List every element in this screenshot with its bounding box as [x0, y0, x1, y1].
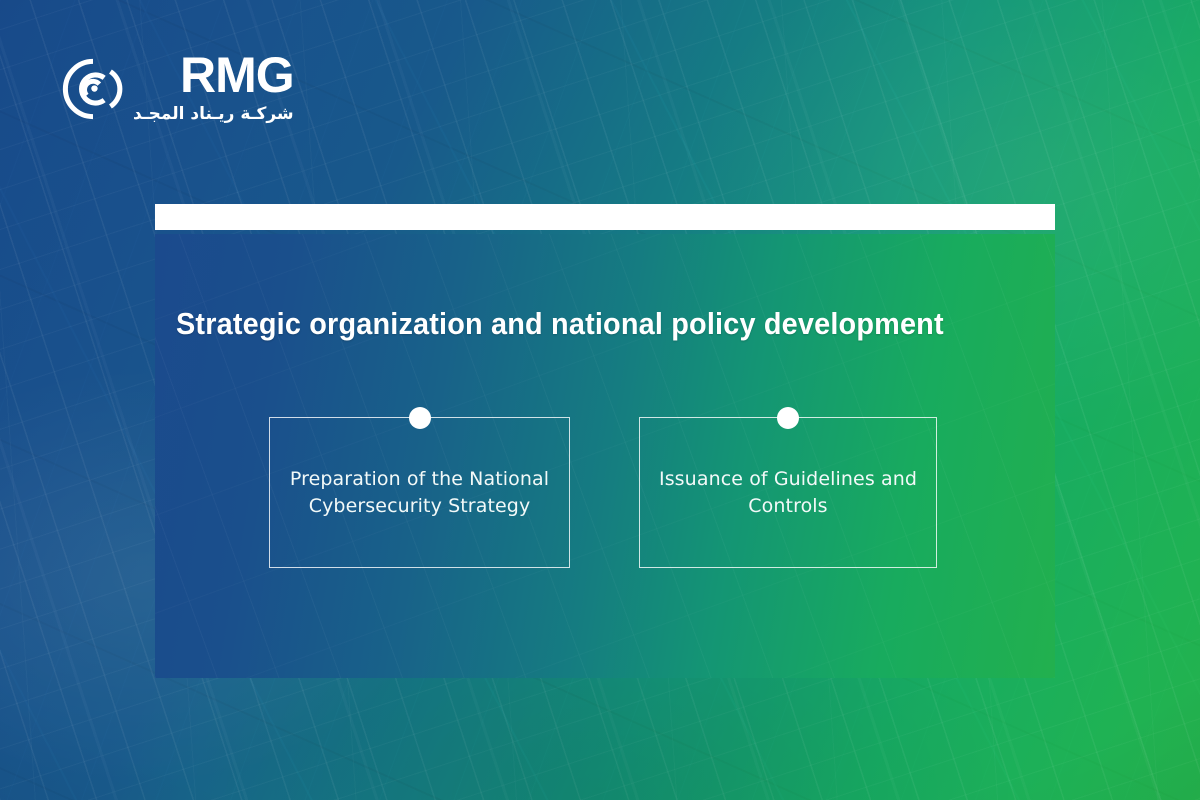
accent-bar: [155, 204, 1055, 230]
dot-marker-icon: [409, 407, 431, 429]
slide-canvas: RMG شركـة ريـناد المجـد Strategic organi…: [0, 0, 1200, 800]
rmg-spiral-icon: [62, 58, 124, 120]
card-item[interactable]: Issuance of Guidelines and Controls: [639, 417, 937, 568]
content-panel: Strategic organization and national poli…: [155, 234, 1055, 678]
brand-logo: RMG شركـة ريـناد المجـد: [62, 52, 294, 124]
card-label: Issuance of Guidelines and Controls: [656, 466, 920, 520]
card-label: Preparation of the National Cybersecurit…: [286, 466, 553, 520]
brand-wordmark: RMG: [180, 52, 294, 100]
card-group: Preparation of the National Cybersecurit…: [155, 234, 1055, 678]
brand-arabic-name: شركـة ريـناد المجـد: [133, 104, 294, 124]
card-item[interactable]: Preparation of the National Cybersecurit…: [269, 417, 570, 568]
dot-marker-icon: [777, 407, 799, 429]
